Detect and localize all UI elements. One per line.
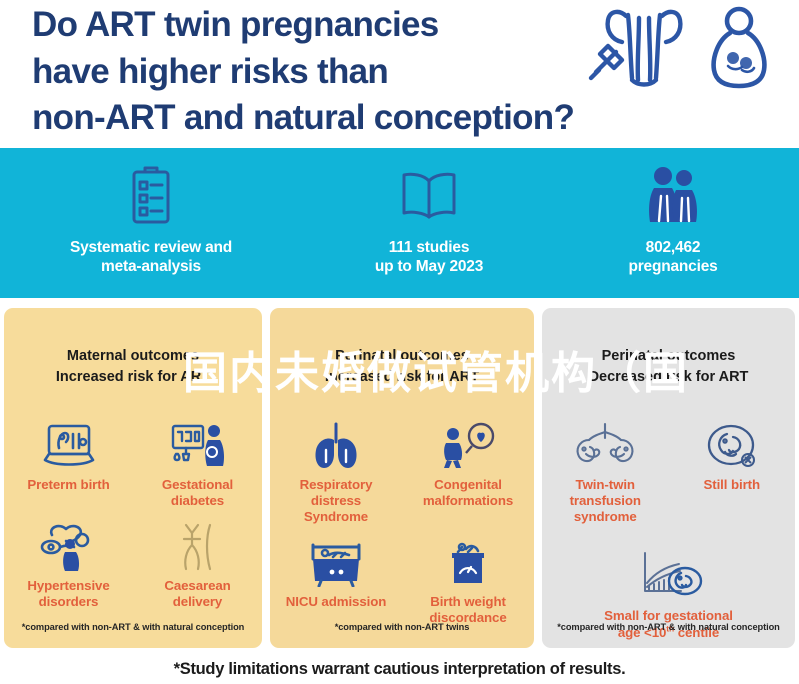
panel-perinatal-decreased-risk: Perinatal outcomes Decreased risk for AR… <box>542 308 795 648</box>
blood-pressure-pregnant-icon <box>8 515 129 571</box>
header-icon-group <box>586 6 772 90</box>
outcome-label: Respiratory distress Syndrome <box>274 477 398 525</box>
panel-perinatal-increased-risk: Perinatal outcomes Increased risk for AR… <box>270 308 534 648</box>
outcome-label: NICU admission <box>274 594 398 610</box>
outcome-label: Still birth <box>673 477 792 493</box>
outcome-item: NICU admission <box>270 531 402 626</box>
outcome-label: Preterm birth <box>8 477 129 493</box>
uterus-syringe-ivf-icon <box>586 6 696 90</box>
stats-band: Systematic review and meta-analysis 111 … <box>0 148 799 298</box>
outcome-item: Twin-twin transfusion syndrome <box>542 414 669 525</box>
baby-magnifier-heart-icon <box>406 414 530 470</box>
stat-label: Systematic review and meta-analysis <box>28 238 274 277</box>
outcome-label: Caesarean delivery <box>137 578 258 610</box>
outcome-label: Twin-twin transfusion syndrome <box>546 477 665 525</box>
panel-title: Perinatal outcomes Decreased risk for AR… <box>548 346 789 387</box>
outcome-grid: Respiratory distress Syndrome <box>270 414 534 632</box>
ultrasound-monitor-icon <box>8 414 129 470</box>
pregnant-people-icon <box>578 162 768 228</box>
panel-title: Maternal outcomes Increased risk for ART <box>10 346 256 387</box>
outcome-item: Respiratory distress Syndrome <box>270 414 402 525</box>
outcome-label: Congenital malformations <box>406 477 530 509</box>
baby-weighing-scale-icon <box>406 531 530 587</box>
outcome-item: Caesarean delivery <box>133 515 262 610</box>
outcome-item: Still birth <box>669 414 796 525</box>
clipboard-checklist-icon <box>28 162 274 228</box>
stat-studies-count: 111 studies up to May 2023 <box>320 162 538 277</box>
outcome-label: Gestational diabetes <box>137 477 258 509</box>
stat-label: 802,462 pregnancies <box>578 238 768 277</box>
panel-footnote: *compared with non-ART & with natural co… <box>4 622 262 632</box>
page-title: Do ART twin pregnancies have higher risk… <box>32 2 602 142</box>
stat-pregnancies-count: 802,462 pregnancies <box>578 162 768 277</box>
panel-title: Perinatal outcomes Increased risk for AR… <box>276 346 528 387</box>
caesarean-scar-icon <box>137 515 258 571</box>
growth-chart-fetus-icon <box>546 545 791 601</box>
header-banner: Do ART twin pregnancies have higher risk… <box>0 0 799 148</box>
panel-footnote: *compared with non-ART twins <box>270 622 534 632</box>
title-line-3: non-ART and natural conception? <box>32 95 602 142</box>
glucose-meter-pregnant-icon <box>137 414 258 470</box>
stat-systematic-review: Systematic review and meta-analysis <box>28 162 274 277</box>
incubator-icon <box>274 531 398 587</box>
outcome-label: Hypertensive disorders <box>8 578 129 610</box>
fetus-cross-icon <box>673 414 792 470</box>
outcome-grid: Preterm birth <box>4 414 262 616</box>
outcome-item: Congenital malformations <box>402 414 534 525</box>
panel-footnote: *compared with non-ART & with natural co… <box>542 622 795 632</box>
outcome-item: Preterm birth <box>4 414 133 509</box>
outcome-item: Birth weight discordance <box>402 531 534 626</box>
title-line-1: Do ART twin pregnancies <box>32 2 602 49</box>
outcome-item: Gestational diabetes <box>133 414 262 509</box>
footer-disclaimer: *Study limitations warrant cautious inte… <box>0 660 799 679</box>
outcome-grid: Twin-twin transfusion syndrome <box>542 414 795 647</box>
panel-maternal-outcomes: Maternal outcomes Increased risk for ART <box>4 308 262 648</box>
outcome-item: Hypertensive disorders <box>4 515 133 610</box>
open-book-icon <box>320 162 538 228</box>
pregnant-woman-twins-icon <box>706 6 772 90</box>
title-line-2: have higher risks than <box>32 49 602 96</box>
outcome-label: Birth weight discordance <box>406 594 530 626</box>
stat-label: 111 studies up to May 2023 <box>320 238 538 277</box>
twin-fetuses-shared-placenta-icon <box>546 414 665 470</box>
lungs-icon <box>274 414 398 470</box>
